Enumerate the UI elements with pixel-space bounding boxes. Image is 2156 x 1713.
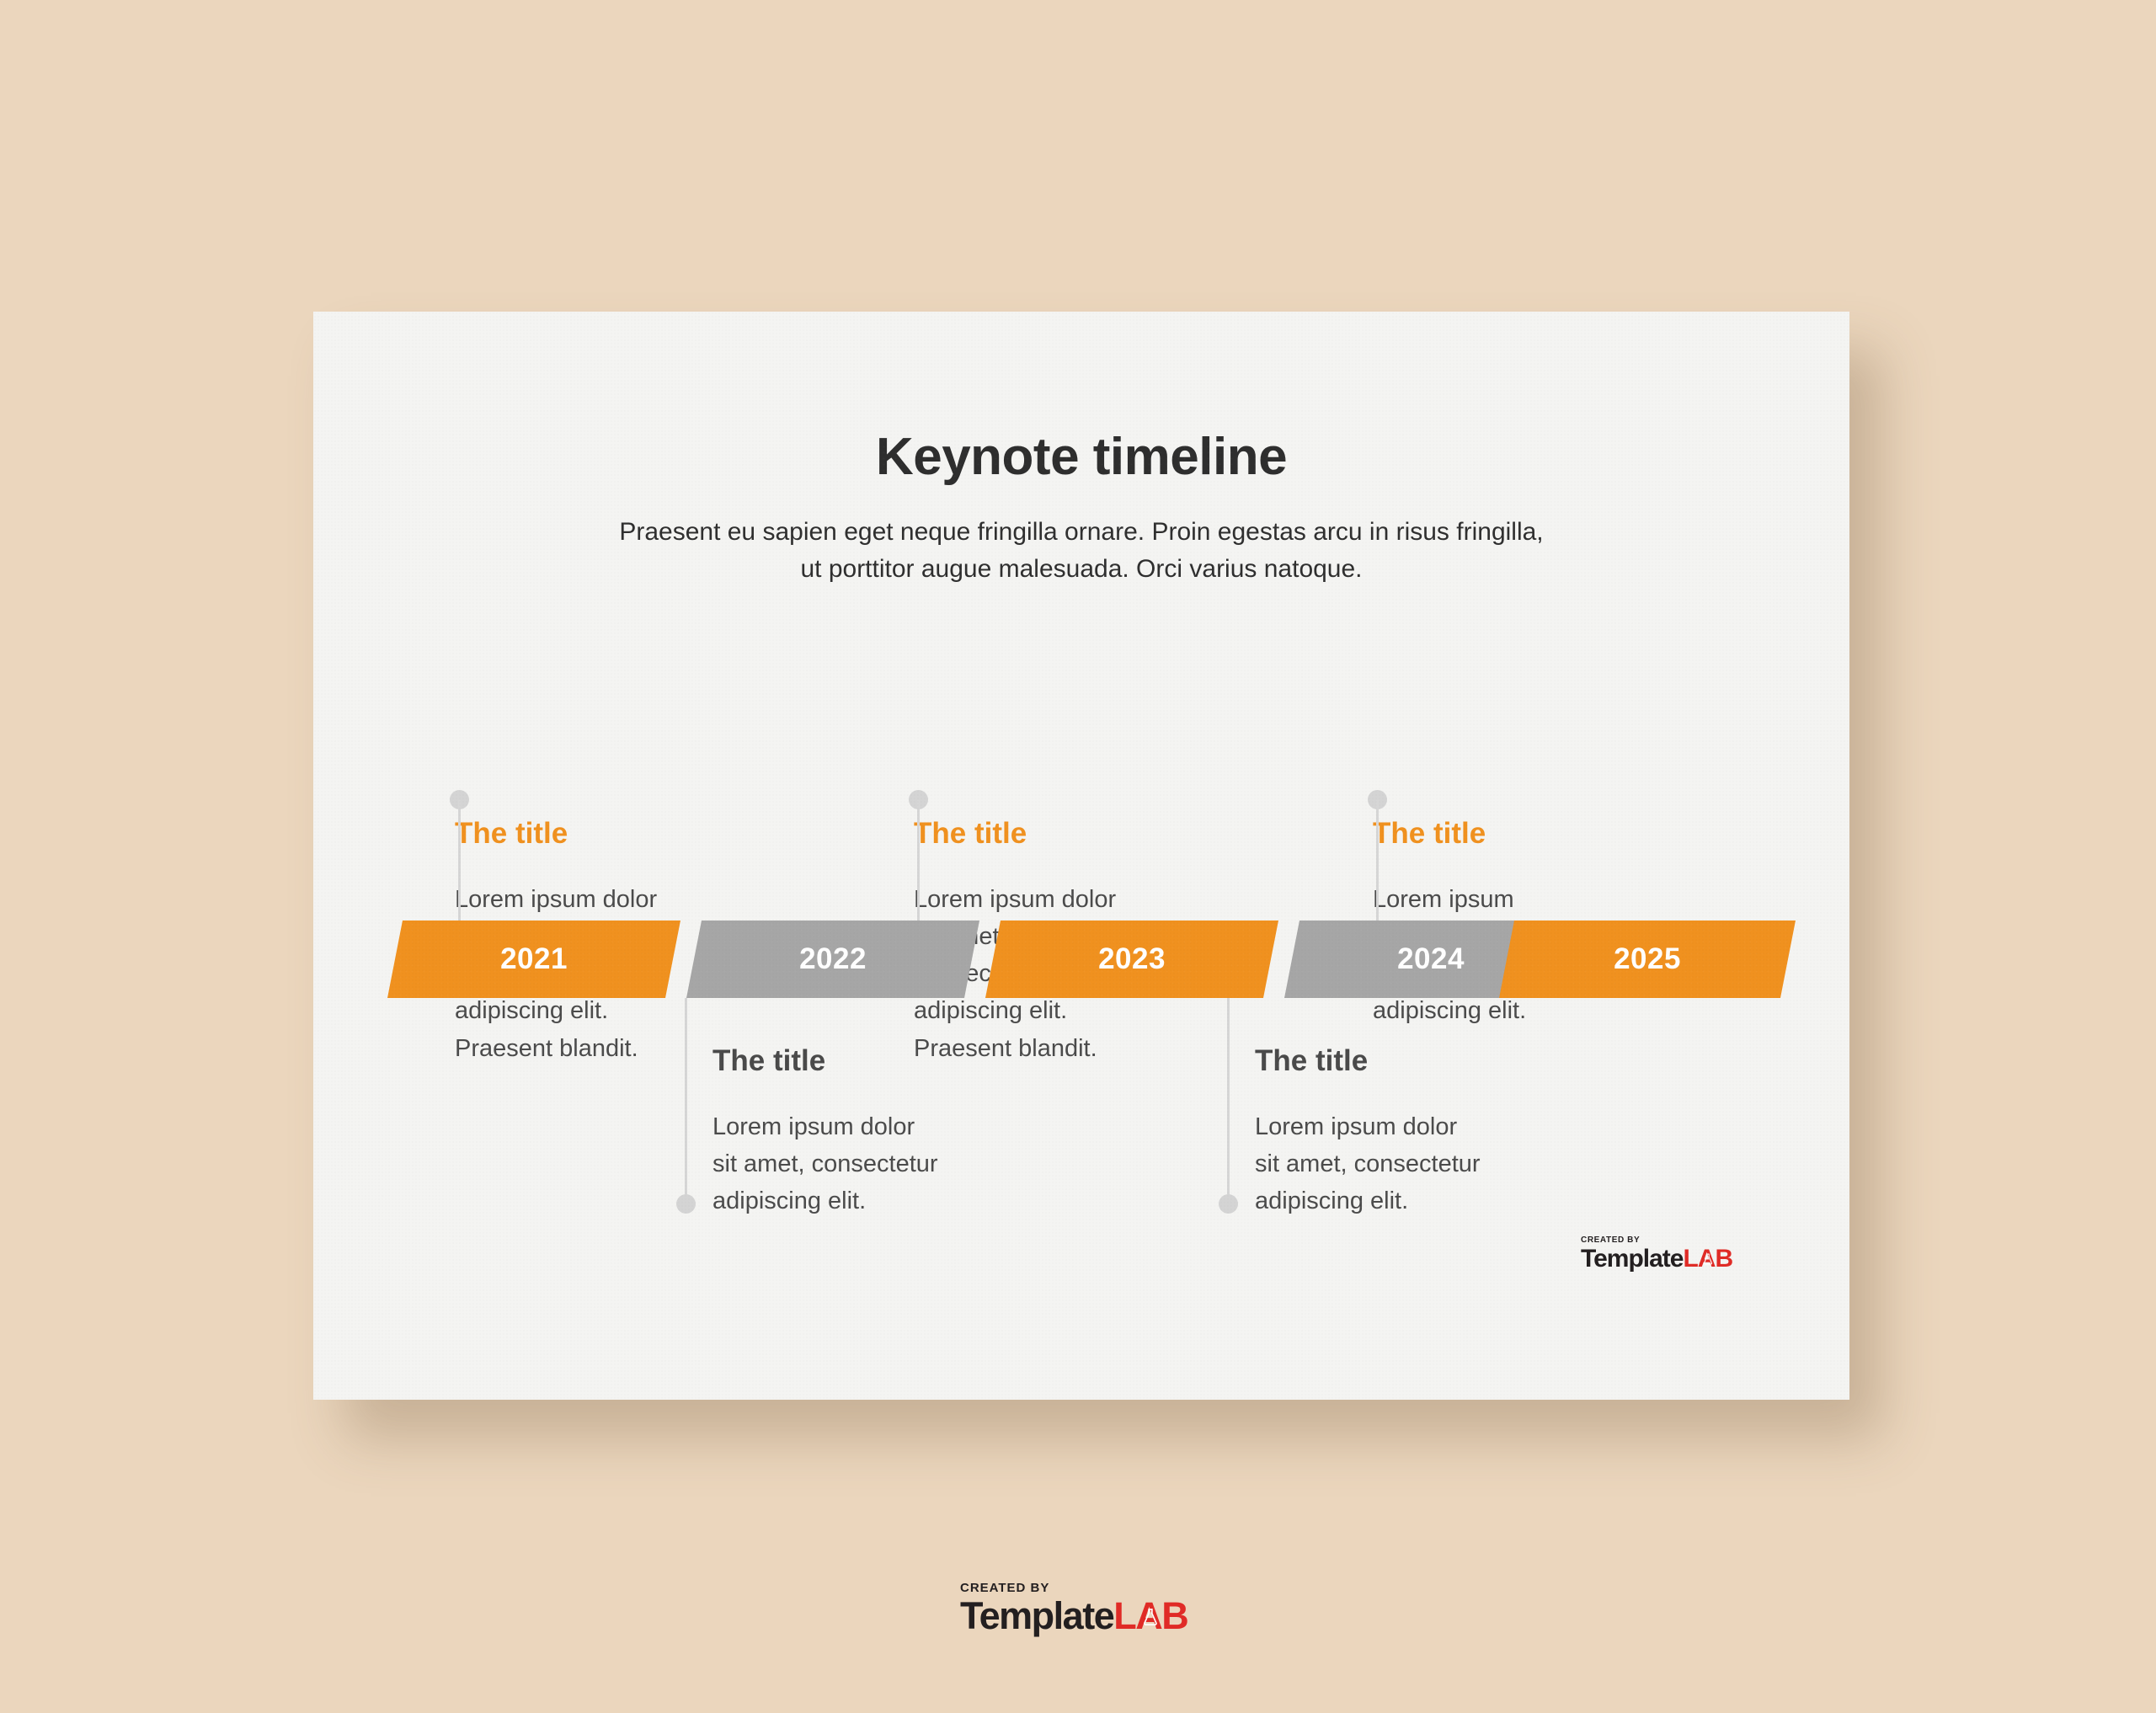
footer-logo-created-by-label: CREATED BY [960, 1582, 1187, 1594]
entry-title-2024: The title [1255, 1044, 1482, 1078]
entry-title-2025: The title [1373, 817, 1555, 851]
footer-logo-lab-text: LAB [1113, 1594, 1187, 1637]
year-segment-2025[interactable]: 2025 [1499, 921, 1796, 998]
page-root: Keynote timeline Praesent eu sapien eget… [0, 0, 2156, 1713]
connector-line-2021 [458, 800, 461, 926]
logo-lab-text: LAB [1683, 1245, 1732, 1273]
year-segment-2023[interactable]: 2023 [985, 921, 1278, 998]
logo-wordmark: TemplateLAB [1581, 1246, 1732, 1272]
footer-logo-wordmark: TemplateLAB [960, 1597, 1187, 1635]
connector-dot-2024 [1219, 1194, 1238, 1214]
year-label-2021: 2021 [500, 942, 568, 976]
timeline-entry-2024[interactable]: The title Lorem ipsum dolor sit amet, co… [1255, 1044, 1482, 1219]
year-segment-2021[interactable]: 2021 [387, 921, 680, 998]
entry-title-2021: The title [455, 817, 675, 851]
connector-line-2025 [1376, 800, 1379, 926]
slide-subtitle: Praesent eu sapien eget neque fringilla … [610, 514, 1553, 589]
entry-body-2022: Lorem ipsum dolor sit amet, consectetur … [712, 1108, 940, 1219]
logo-template-text: Template [1581, 1245, 1683, 1273]
timeline-entry-2022[interactable]: The title Lorem ipsum dolor sit amet, co… [712, 1044, 940, 1219]
templatelab-logo-card: CREATED BY TemplateLAB [1581, 1236, 1732, 1272]
page-title: Keynote timeline [313, 430, 1849, 484]
year-label-2022: 2022 [799, 942, 867, 976]
entry-title-2023: The title [914, 817, 1134, 851]
year-label-2024: 2024 [1397, 942, 1465, 976]
timeline-band: 2021 2022 2023 2024 2025 [387, 921, 1796, 998]
logo-created-by-label: CREATED BY [1581, 1236, 1732, 1245]
connector-line-2023 [917, 800, 920, 926]
year-segment-2022[interactable]: 2022 [686, 921, 979, 998]
year-label-2023: 2023 [1098, 942, 1166, 976]
footer-flask-icon [1144, 1609, 1158, 1625]
templatelab-logo-footer: CREATED BY TemplateLAB [960, 1582, 1187, 1635]
connector-dot-2022 [676, 1194, 696, 1214]
footer-logo-template-text: Template [960, 1594, 1113, 1637]
entry-title-2022: The title [712, 1044, 940, 1078]
year-label-2025: 2025 [1614, 942, 1681, 976]
slide-card: Keynote timeline Praesent eu sapien eget… [313, 312, 1849, 1400]
flask-icon [1703, 1254, 1712, 1265]
connector-line-2024 [1227, 998, 1230, 1204]
connector-line-2022 [685, 998, 687, 1204]
entry-body-2024: Lorem ipsum dolor sit amet, consectetur … [1255, 1108, 1482, 1219]
